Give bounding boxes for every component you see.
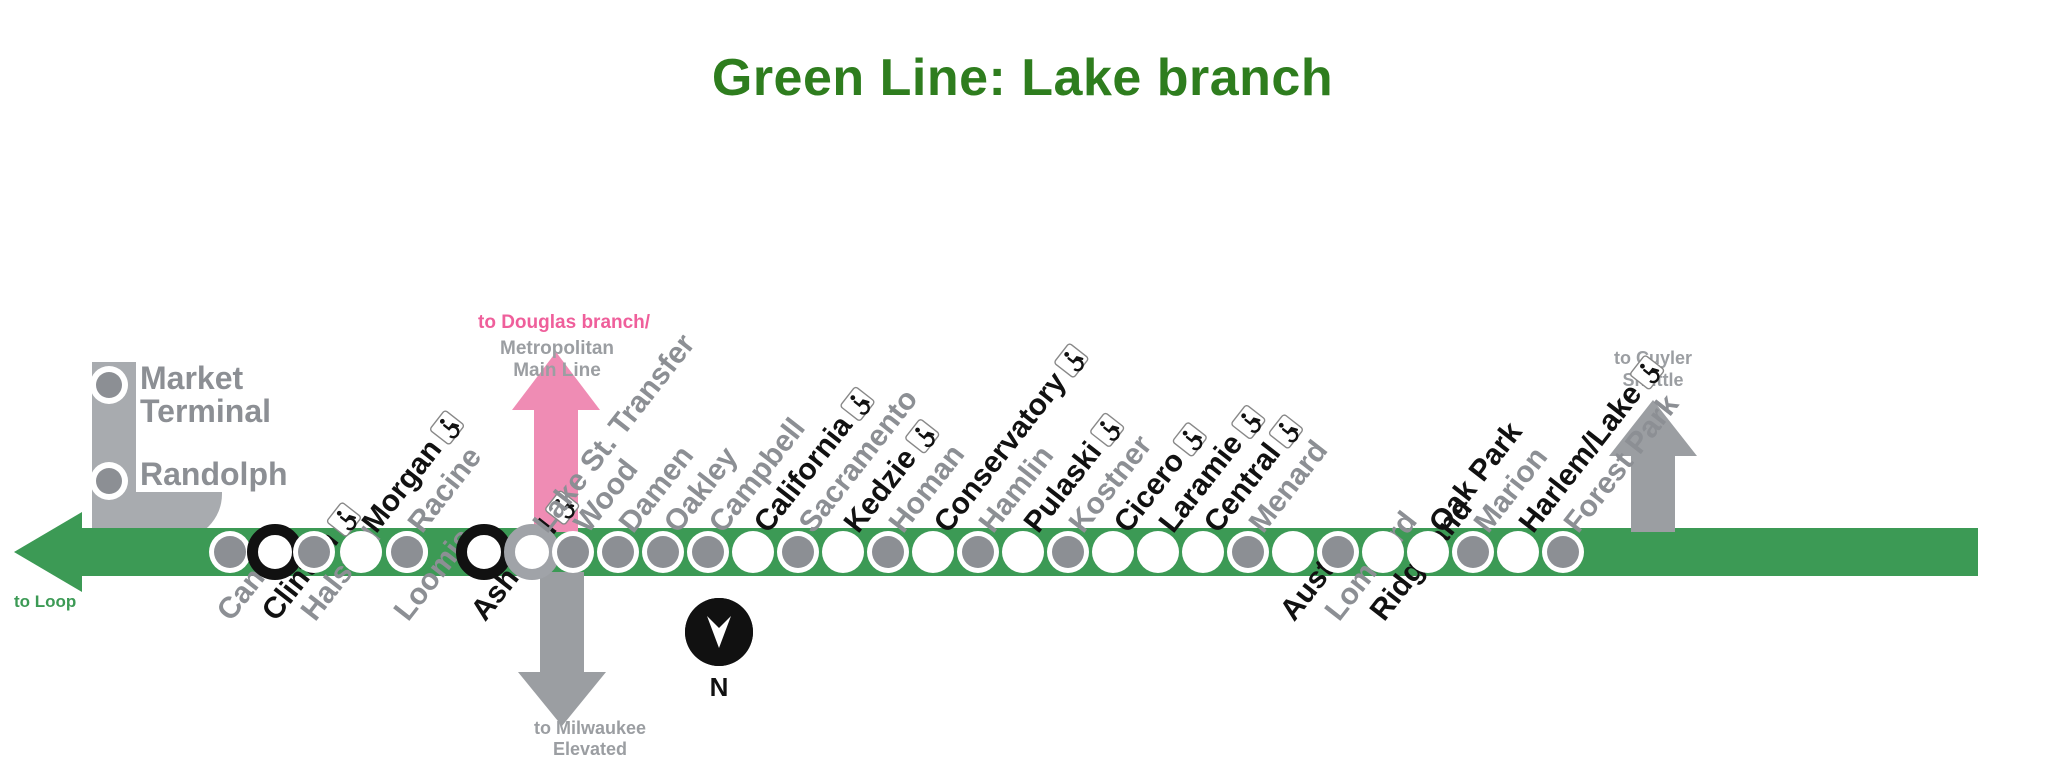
station-dot-damen[interactable] — [602, 536, 634, 568]
station-dot-wood[interactable] — [557, 536, 589, 568]
douglas-branch-label: to Douglas branch/ — [478, 312, 650, 334]
station-dot-conservatory[interactable] — [917, 536, 949, 568]
station-dot-pulaski[interactable] — [1007, 536, 1039, 568]
station-dot-loomis[interactable] — [391, 536, 423, 568]
station-dot-homan[interactable] — [872, 536, 904, 568]
station-dot-forest-park[interactable] — [1547, 536, 1579, 568]
station-dot-california[interactable] — [737, 536, 769, 568]
station-dot-laramie[interactable] — [1142, 536, 1174, 568]
station-dot-market-terminal[interactable] — [96, 372, 122, 398]
station-dot-oak-park[interactable] — [1412, 536, 1444, 568]
station-dot-hamlin[interactable] — [962, 536, 994, 568]
station-dot-morgan[interactable] — [345, 536, 377, 568]
station-dot-marion[interactable] — [1457, 536, 1489, 568]
compass-label: N — [685, 672, 753, 703]
station-dot-canal[interactable] — [214, 536, 246, 568]
metropolitan-main-line-label: MetropolitanMain Line — [500, 338, 614, 382]
station-dot-menard[interactable] — [1232, 536, 1264, 568]
milwaukee-branch-shaft — [540, 572, 584, 682]
station-dot-sacramento[interactable] — [782, 536, 814, 568]
station-dot-austin[interactable] — [1277, 536, 1309, 568]
station-dot-randolph[interactable] — [96, 468, 122, 494]
station-dot-kedzie[interactable] — [827, 536, 859, 568]
milwaukee-branch-label: to MilwaukeeElevated — [500, 718, 680, 759]
station-dot-oakley[interactable] — [647, 536, 679, 568]
station-label-market-terminal: MarketTerminal — [140, 362, 271, 427]
station-dot-central[interactable] — [1187, 536, 1219, 568]
station-dot-kostner[interactable] — [1052, 536, 1084, 568]
station-dot-cicero[interactable] — [1097, 536, 1129, 568]
page-title: Green Line: Lake branch — [0, 48, 2045, 108]
to-loop-label: to Loop — [14, 592, 76, 612]
station-dot-harlem-lake[interactable] — [1502, 536, 1534, 568]
line-terminus-arrow-west — [14, 512, 82, 592]
station-dot-campbell[interactable] — [692, 536, 724, 568]
north-arrow-icon — [685, 598, 753, 666]
station-label-randolph: Randolph — [140, 458, 288, 491]
transit-map: Green Line: Lake branch MarketTerminal R… — [0, 0, 2045, 772]
station-dot-halsted[interactable] — [298, 536, 330, 568]
station-dot-ridgeland[interactable] — [1367, 536, 1399, 568]
station-dot-lombard[interactable] — [1322, 536, 1354, 568]
